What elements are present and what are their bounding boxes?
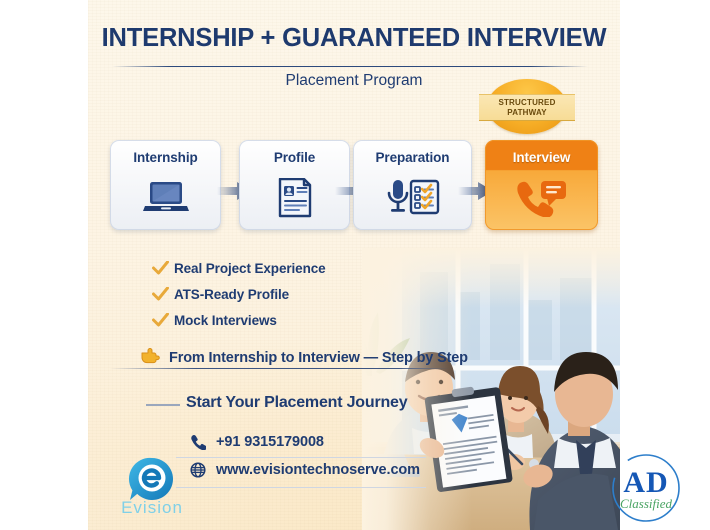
check-icon bbox=[152, 261, 174, 275]
pipeline-step-internship[interactable]: Internship bbox=[110, 140, 221, 230]
resume-document-icon bbox=[239, 165, 350, 230]
cta-dash bbox=[146, 404, 180, 406]
contact-phone[interactable]: +91 9315179008 bbox=[188, 428, 420, 456]
ad-watermark-initials: AD bbox=[607, 466, 685, 500]
ad-creative: INTERNSHIP + GUARANTEED INTERVIEW Placem… bbox=[88, 0, 620, 530]
pipeline-step-label: Interview bbox=[513, 150, 571, 165]
benefit-label: Real Project Experience bbox=[174, 261, 326, 276]
phone-icon bbox=[188, 434, 207, 450]
laptop-icon bbox=[110, 165, 221, 230]
tagline: From Internship to Interview — Step by S… bbox=[140, 347, 468, 369]
check-icon bbox=[152, 313, 174, 327]
process-pipeline: Internship bbox=[110, 140, 598, 232]
tagline-divider bbox=[110, 368, 450, 369]
phone-number: +91 9315179008 bbox=[216, 434, 324, 450]
benefit-item: Mock Interviews bbox=[152, 307, 326, 333]
ad-watermark-subtitle: Classified bbox=[607, 496, 685, 512]
evision-logo[interactable]: Evision bbox=[108, 456, 196, 522]
benefit-item: Real Project Experience bbox=[152, 255, 326, 281]
pipeline-step-label: Preparation bbox=[376, 150, 450, 165]
benefit-label: ATS-Ready Profile bbox=[174, 287, 289, 302]
benefits-list: Real Project Experience ATS-Ready Profil… bbox=[152, 255, 326, 333]
pipeline-step-profile[interactable]: Profile bbox=[239, 140, 350, 230]
pipeline-step-preparation[interactable]: Preparation bbox=[353, 140, 472, 230]
phone-chat-icon bbox=[485, 165, 598, 230]
badge-ribbon: STRUCTURED PATHWAY bbox=[479, 94, 575, 121]
ad-classified-watermark: AD Classified bbox=[607, 452, 685, 524]
badge-line-2: PATHWAY bbox=[507, 108, 546, 118]
pipeline-step-interview[interactable]: Interview bbox=[485, 140, 598, 230]
badge-line-1: STRUCTURED bbox=[498, 98, 555, 108]
cta-label: Start Your Placement Journey bbox=[186, 394, 407, 412]
headline-divider bbox=[112, 66, 588, 67]
structured-pathway-badge: STRUCTURED PATHWAY bbox=[479, 79, 575, 134]
evision-wordmark: Evision bbox=[108, 498, 196, 518]
contact-divider-1 bbox=[176, 457, 426, 458]
contact-website[interactable]: www.evisiontechnoserve.com bbox=[188, 456, 420, 484]
ad-screenshot-canvas: INTERNSHIP + GUARANTEED INTERVIEW Placem… bbox=[0, 0, 710, 530]
benefit-item: ATS-Ready Profile bbox=[152, 281, 326, 307]
pipeline-step-label: Internship bbox=[133, 150, 197, 165]
headline: INTERNSHIP + GUARANTEED INTERVIEW bbox=[88, 24, 620, 53]
contact-block: +91 9315179008 www.evisiontechnoserve.co… bbox=[188, 428, 420, 484]
tagline-label: From Internship to Interview — Step by S… bbox=[169, 350, 468, 366]
microphone-checklist-icon bbox=[353, 165, 472, 230]
website-url: www.evisiontechnoserve.com bbox=[216, 462, 420, 478]
pipeline-step-label: Profile bbox=[274, 150, 315, 165]
benefit-label: Mock Interviews bbox=[174, 313, 277, 328]
check-icon bbox=[152, 287, 174, 301]
pointing-hand-icon bbox=[140, 347, 161, 369]
contact-divider-2 bbox=[176, 487, 426, 488]
